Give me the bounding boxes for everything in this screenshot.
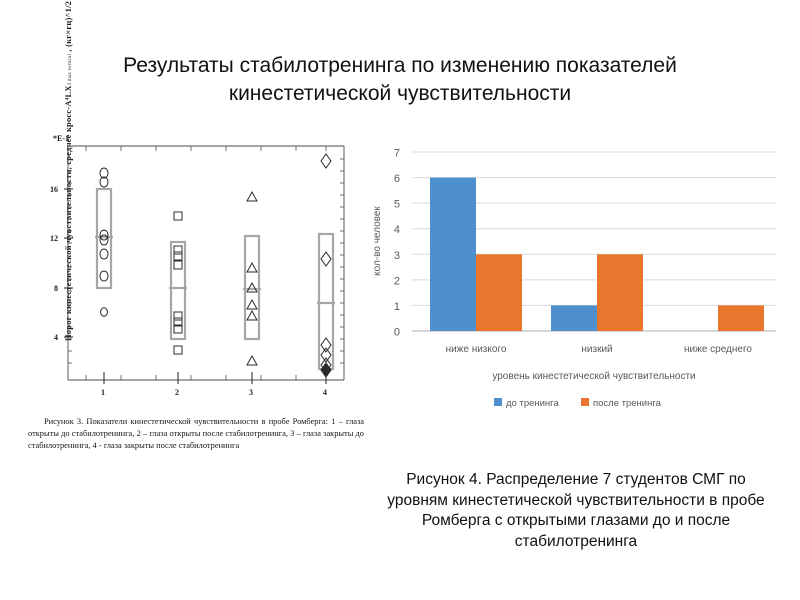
boxplot-bottom-ticks (86, 375, 326, 380)
boxplot-group-1 (95, 168, 113, 316)
boxplot-x-tick-3: 3 (249, 388, 253, 397)
bar-before-nizkiy (551, 305, 597, 331)
boxplot-y-axis-label-sub: 3 max vertical (68, 54, 73, 85)
boxplot-y-tick-8: 8 (54, 284, 58, 293)
boxplot-box-2 (171, 242, 185, 339)
legend-label-before: до тренинга (506, 398, 559, 409)
barchart-ytick-4: 4 (394, 224, 400, 236)
barchart-ytick-0: 0 (394, 327, 400, 339)
boxplot-box-1 (97, 189, 111, 288)
figure-3-container: Порог кинестетической чувствительности, … (26, 128, 366, 478)
boxplot-points-2 (174, 212, 182, 354)
bar-after-nizkiy (597, 254, 643, 331)
boxplot-group-4 (317, 154, 335, 377)
barchart-plot-area: 0 1 2 3 4 5 6 7 кол-во человек ниже ни (366, 140, 786, 412)
legend-label-after: после тренинга (593, 398, 662, 409)
barchart-cat-label-1: низкий (581, 344, 612, 355)
boxplot-points-1 (100, 168, 108, 316)
page-title: Результаты стабилотренинга по изменению … (60, 52, 740, 107)
barchart-ytick-7: 7 (394, 148, 400, 160)
barchart-ytick-5: 5 (394, 199, 400, 211)
boxplot-exponent-label: *E-1 (53, 134, 69, 143)
boxplot-box-3 (245, 236, 259, 339)
boxplot-y-tick-12: 12 (50, 234, 58, 243)
boxplot-group-2 (169, 212, 187, 354)
legend-swatch-before (494, 398, 502, 406)
bar-before-nizhe-nizkogo (430, 178, 476, 331)
barchart-legend: до тренинга после тренинга (494, 398, 662, 409)
boxplot-plot-area: *E-1 (26, 128, 366, 413)
boxplot-points-4 (321, 154, 331, 377)
barchart-cat-label-0: ниже низкого (446, 344, 507, 355)
boxplot-y-tick-4: 4 (54, 333, 58, 342)
figure-4-caption: Рисунок 4. Распределение 7 студентов СМГ… (376, 470, 776, 552)
barchart-ytick-2: 2 (394, 275, 400, 287)
figure-4-container: 0 1 2 3 4 5 6 7 кол-во человек ниже ни (366, 140, 786, 580)
barchart-svg: 0 1 2 3 4 5 6 7 кол-во человек ниже ни (366, 140, 786, 412)
barchart-y-ticks: 0 1 2 3 4 5 6 7 (394, 148, 400, 339)
barchart-ytick-3: 3 (394, 250, 400, 262)
boxplot-top-ticks (86, 146, 326, 151)
boxplot-left-minor-ticks (68, 159, 72, 363)
boxplot-x-tick-4: 4 (323, 388, 327, 397)
boxplot-right-minor-ticks (340, 159, 344, 363)
bar-after-nizhe-srednego (718, 305, 764, 331)
boxplot-y-tick-16: 16 (50, 185, 58, 194)
bar-after-nizhe-nizkogo (476, 254, 522, 331)
barchart-ytick-1: 1 (394, 301, 400, 313)
legend-swatch-after (581, 398, 589, 406)
boxplot-svg: *E-1 (26, 128, 366, 413)
boxplot-group-3 (243, 192, 261, 365)
barchart-y-axis-title: кол-во человек (372, 206, 383, 276)
boxplot-x-tick-group: 1 2 3 4 (101, 372, 327, 397)
boxplot-x-tick-2: 2 (175, 388, 179, 397)
boxplot-x-tick-1: 1 (101, 388, 105, 397)
barchart-ytick-6: 6 (394, 173, 400, 185)
barchart-x-axis-title: уровень кинестетической чувствительности (492, 371, 695, 382)
boxplot-y-axis-label-tail: , (кг×гц)^1/2 (63, 1, 73, 54)
barchart-cat-label-2: ниже среднего (684, 344, 752, 355)
figure-3-caption: Рисунок 3. Показатели кинестетической чу… (28, 416, 364, 452)
boxplot-y-tick-group: 4 8 12 16 (50, 185, 73, 342)
